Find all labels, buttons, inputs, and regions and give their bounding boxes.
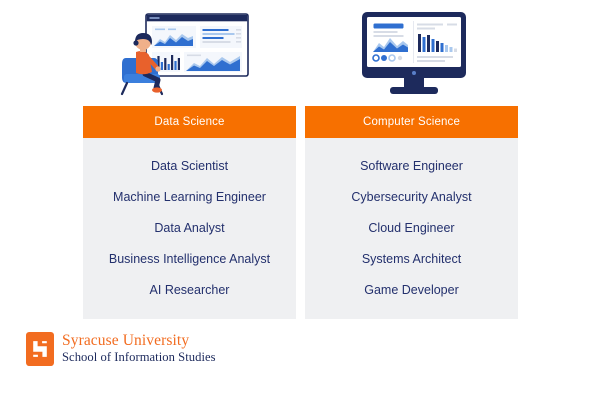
role-item: Software Engineer xyxy=(305,150,518,181)
column-header-data-science: Data Science xyxy=(83,106,296,138)
role-item: AI Researcher xyxy=(83,274,296,305)
desktop-monitor-dashboard-illustration xyxy=(352,8,477,98)
career-column-computer-science: Computer Science Software Engineer Cyber… xyxy=(305,106,518,319)
logo-school-name: School of Information Studies xyxy=(62,351,216,365)
role-item: Systems Architect xyxy=(305,243,518,274)
person-analyzing-dashboard-illustration xyxy=(112,8,252,98)
career-columns: Data Science Data Scientist Machine Lear… xyxy=(0,106,600,310)
logo-text-lockup: Syracuse University School of Informatio… xyxy=(62,333,216,364)
person-analyzing-dashboard-svg xyxy=(112,8,252,98)
career-column-data-science: Data Science Data Scientist Machine Lear… xyxy=(83,106,296,319)
role-item: Game Developer xyxy=(305,274,518,305)
desktop-monitor-dashboard-svg xyxy=(352,8,477,98)
role-item: Cloud Engineer xyxy=(305,212,518,243)
column-body-data-science: Data Scientist Machine Learning Engineer… xyxy=(83,138,296,319)
role-item: Business Intelligence Analyst xyxy=(83,243,296,274)
role-item: Cybersecurity Analyst xyxy=(305,181,518,212)
role-item: Data Scientist xyxy=(83,150,296,181)
logo-university-name: Syracuse University xyxy=(62,333,216,350)
illustration-row xyxy=(0,0,600,100)
column-header-computer-science: Computer Science xyxy=(305,106,518,138)
role-item: Machine Learning Engineer xyxy=(83,181,296,212)
block-s-icon xyxy=(26,332,54,366)
role-item: Data Analyst xyxy=(83,212,296,243)
syracuse-university-logo: Syracuse University School of Informatio… xyxy=(26,332,216,366)
column-body-computer-science: Software Engineer Cybersecurity Analyst … xyxy=(305,138,518,319)
